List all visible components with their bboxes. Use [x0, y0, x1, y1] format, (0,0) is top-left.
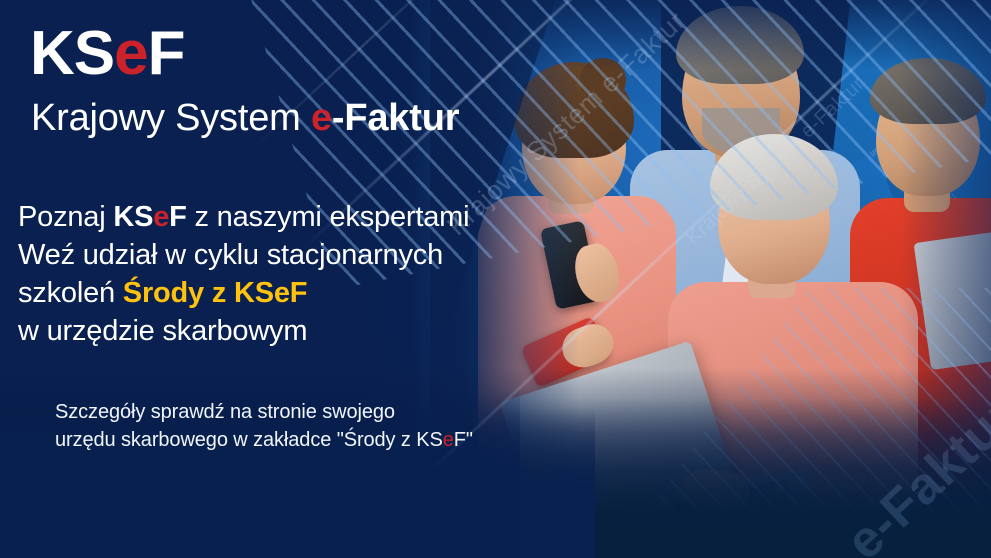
note-line-2: urzędu skarbowego w zakładce "Środy z KS…: [55, 426, 473, 454]
logo-part-2: F: [148, 19, 185, 88]
headline-l1-brand-accent: e: [153, 201, 169, 233]
logo-part-1: KS: [30, 19, 114, 88]
headline-l1-brand-b: F: [169, 201, 187, 233]
headline-l1-a: Poznaj: [18, 201, 113, 233]
logo-accent-e: e: [114, 19, 147, 88]
subtitle-plain: Krajowy System: [31, 97, 311, 139]
hair: [870, 58, 986, 124]
subtitle-bold: -Faktur: [332, 97, 459, 139]
note-l2-accent-e: e: [443, 429, 454, 451]
note-line-1: Szczegóły sprawdź na stronie swojego: [55, 398, 473, 426]
subtitle-accent-e: e: [311, 97, 332, 139]
headline-line-2: Weź udział w cyklu stacjonarnych: [18, 236, 469, 274]
logo-subtitle: Krajowy System e-Faktur: [31, 99, 459, 137]
ksef-promo-banner: Imię nazwisko lub nazwa Adres [Adres] Da…: [0, 0, 991, 558]
headline-highlight-srody-z-ksef: Środy z KSeF: [123, 277, 308, 309]
headline-line-3: szkoleń Środy z KSeF: [18, 274, 469, 312]
text-content: KSeF Krajowy System e-Faktur Poznaj KSeF…: [0, 0, 560, 558]
note-block: Szczegóły sprawdź na stronie swojego urz…: [55, 398, 473, 454]
headline-l1-b: z naszymi ekspertami: [187, 201, 470, 233]
headline-block: Poznaj KSeF z naszymi ekspertami Weź udz…: [18, 198, 469, 350]
hair: [676, 6, 804, 84]
note-l2-a: urzędu skarbowego w zakładce "Środy z KS: [55, 429, 443, 451]
note-l2-b: F": [454, 429, 473, 451]
hair-bun: [580, 58, 626, 102]
ksef-logo: KSeF: [30, 23, 185, 85]
headline-line-1: Poznaj KSeF z naszymi ekspertami: [18, 198, 469, 236]
headline-line-4: w urzędzie skarbowym: [18, 312, 469, 350]
headline-l3-a: szkoleń: [18, 277, 123, 309]
headline-l1-brand-a: KS: [113, 201, 153, 233]
